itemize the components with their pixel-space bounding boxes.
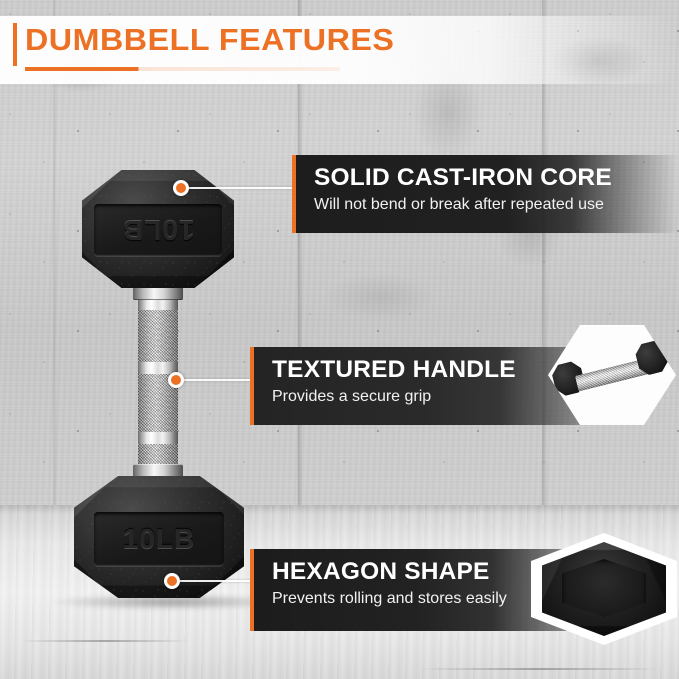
inset-hexagon-endview	[531, 533, 677, 645]
leader-line-handle	[184, 379, 254, 381]
title-accent-bar	[13, 23, 17, 66]
hexagon-inner-rim	[562, 559, 646, 617]
title-underline-rule	[25, 67, 340, 71]
weight-plate-top: 10LB	[94, 204, 222, 256]
callout-heading: SOLID CAST-IRON CORE	[314, 164, 679, 192]
callout-dot-core	[173, 180, 189, 196]
weight-label-top: 10LB	[122, 214, 194, 246]
weight-label-bottom: 10LB	[123, 523, 195, 555]
weight-plate-bottom: 10LB	[94, 512, 224, 566]
infographic-canvas: DUMBBELL FEATURES 10LB 10LB	[0, 0, 679, 679]
mini-dumbbell-handle	[575, 359, 649, 392]
mini-dumbbell-side-view	[552, 345, 673, 406]
page-title: DUMBBELL FEATURES	[25, 22, 394, 58]
leader-line-core	[188, 187, 296, 189]
callout-dot-handle	[168, 372, 184, 388]
callout-dot-hexagon	[164, 573, 180, 589]
floor-streak	[420, 668, 660, 670]
callout-body: SOLID CAST-IRON CORE Will not bend or br…	[296, 155, 679, 233]
handle-knurl-section	[138, 310, 178, 362]
callout-solid-cast-iron-core: SOLID CAST-IRON CORE Will not bend or br…	[292, 155, 679, 233]
floor-streak	[20, 640, 190, 642]
callout-subtitle: Will not bend or break after repeated us…	[314, 196, 679, 214]
leader-line-hexagon	[180, 580, 254, 582]
